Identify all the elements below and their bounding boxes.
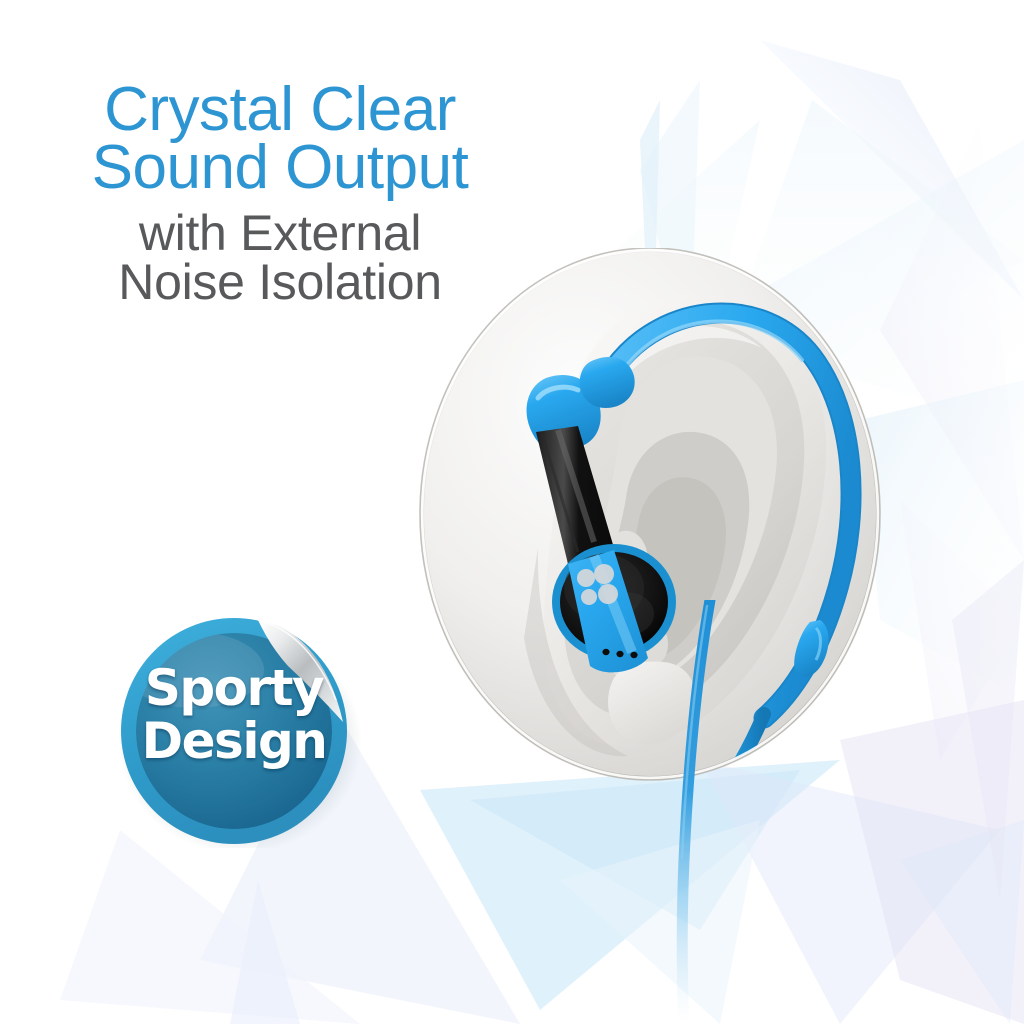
headline-line-2: Sound Output — [0, 136, 560, 200]
ear-with-earphone-scene — [418, 248, 898, 808]
ear-render — [418, 248, 898, 808]
sporty-design-badge[interactable]: Sporty Design — [110, 618, 390, 848]
badge-sticker-graphic — [110, 618, 390, 848]
banner-canvas: Crystal Clear Sound Output with External… — [0, 0, 1024, 1024]
